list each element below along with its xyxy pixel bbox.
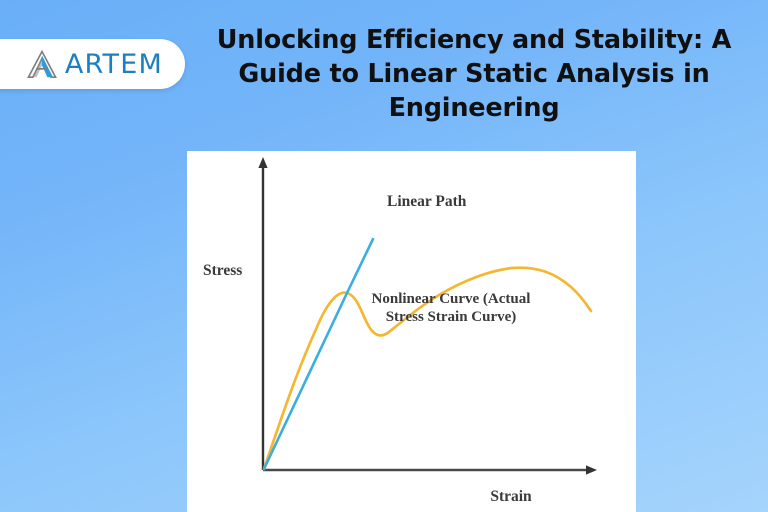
figure-card: Linear Path Nonlinear Curve (Actual Stre… [187,151,636,512]
x-axis-arrow-icon [586,465,597,474]
x-axis [263,465,597,474]
nonlinear-curve-label-line1: Nonlinear Curve (Actual [372,291,531,307]
series-linear-path [264,239,373,469]
brand-logo-group: ARTEM [27,50,163,79]
page-title: Unlocking Efficiency and Stability: A Gu… [196,24,752,126]
artem-triangle-a-logo-icon [27,50,57,79]
y-axis [258,157,267,470]
brand-logo-pill[interactable]: ARTEM [0,39,185,89]
y-axis-arrow-icon [258,157,267,168]
stress-strain-chart: Linear Path Nonlinear Curve (Actual Stre… [187,151,636,512]
brand-name-text: ARTEM [65,51,163,78]
slide-canvas: ARTEM Unlocking Efficiency and Stability… [0,0,768,512]
linear-path-label: Linear Path [387,193,467,210]
nonlinear-curve-label: Nonlinear Curve (Actual Stress Strain Cu… [372,291,531,325]
x-axis-title: Strain [490,488,532,505]
nonlinear-curve-label-line2: Stress Strain Curve) [386,309,517,325]
y-axis-title: Stress [203,262,242,279]
